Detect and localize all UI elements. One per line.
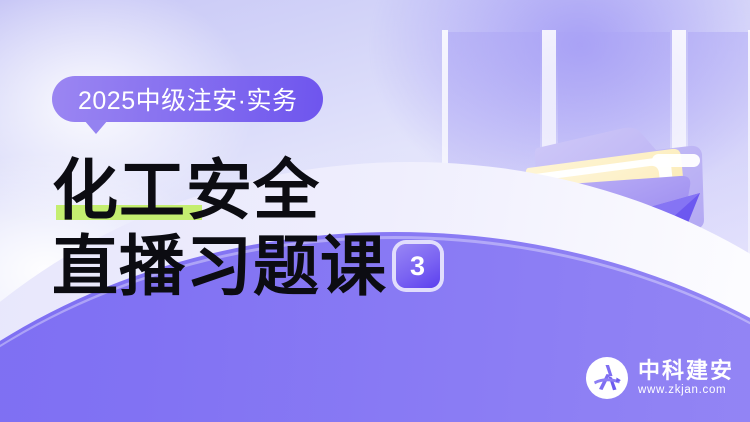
person-arrow-circle-icon xyxy=(585,356,629,400)
course-tag-label: 2025中级注安·实务 xyxy=(78,81,297,117)
brand-logo[interactable]: 中科建安 www.zkjan.com xyxy=(585,356,734,400)
speech-bubble-tail-icon xyxy=(84,120,108,134)
headline-line-1: 化工安全 xyxy=(52,152,440,228)
course-tag-pill[interactable]: 2025中级注安·实务 xyxy=(52,76,323,122)
brand-url: www.zkjan.com xyxy=(638,385,734,397)
course-poster: 2025中级注安·实务 化工安全 直播习题课 3 中科建安 xyxy=(0,0,750,422)
headline-line-1-text: 化工安全 xyxy=(52,151,320,229)
poster-headline: 化工安全 直播习题课 3 xyxy=(52,152,440,304)
brand-name: 中科建安 xyxy=(638,360,734,382)
headline-line-2: 直播习题课 3 xyxy=(52,228,440,304)
headline-line-2-text: 直播习题课 xyxy=(52,228,387,304)
brand-text-block: 中科建安 www.zkjan.com xyxy=(638,360,734,397)
episode-number-badge: 3 xyxy=(396,244,440,288)
course-tag[interactable]: 2025中级注安·实务 xyxy=(52,76,323,122)
